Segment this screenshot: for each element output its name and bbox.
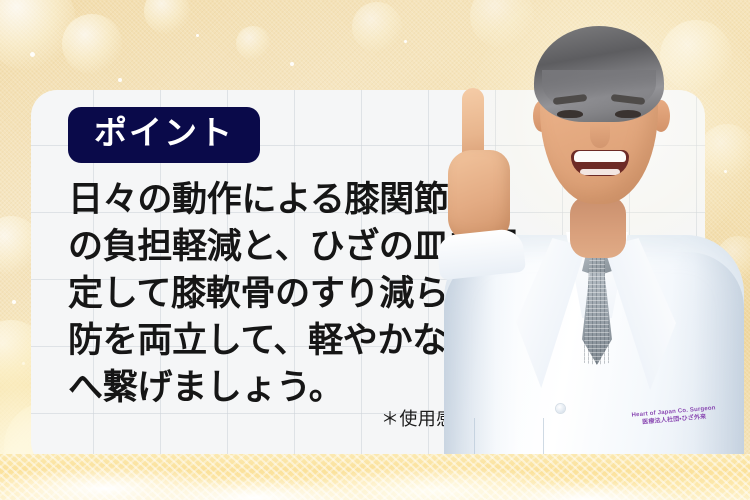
bottom-glitter-band — [0, 454, 750, 500]
point-badge: ポイント — [68, 107, 260, 163]
point-card: ポイント 日々の動作による膝関節へ の負担軽減と、ひざの皿を固 定して膝軟骨のす… — [31, 90, 705, 468]
body-line: 防を両立して、軽やかな歩行 — [68, 317, 498, 364]
disclaimer-text: ＊使用感には個人差があります — [381, 405, 639, 431]
body-line: の負担軽減と、ひざの皿を固 — [68, 223, 498, 270]
body-line: 定して膝軟骨のすり減らし予 — [68, 270, 498, 317]
body-copy: 日々の動作による膝関節へ の負担軽減と、ひざの皿を固 定して膝軟骨のすり減らし予… — [68, 176, 498, 411]
promo-banner: ポイント 日々の動作による膝関節へ の負担軽減と、ひざの皿を固 定して膝軟骨のす… — [0, 0, 750, 500]
body-line: へ繋げましょう。 — [68, 364, 498, 411]
body-line: 日々の動作による膝関節へ — [68, 176, 498, 223]
